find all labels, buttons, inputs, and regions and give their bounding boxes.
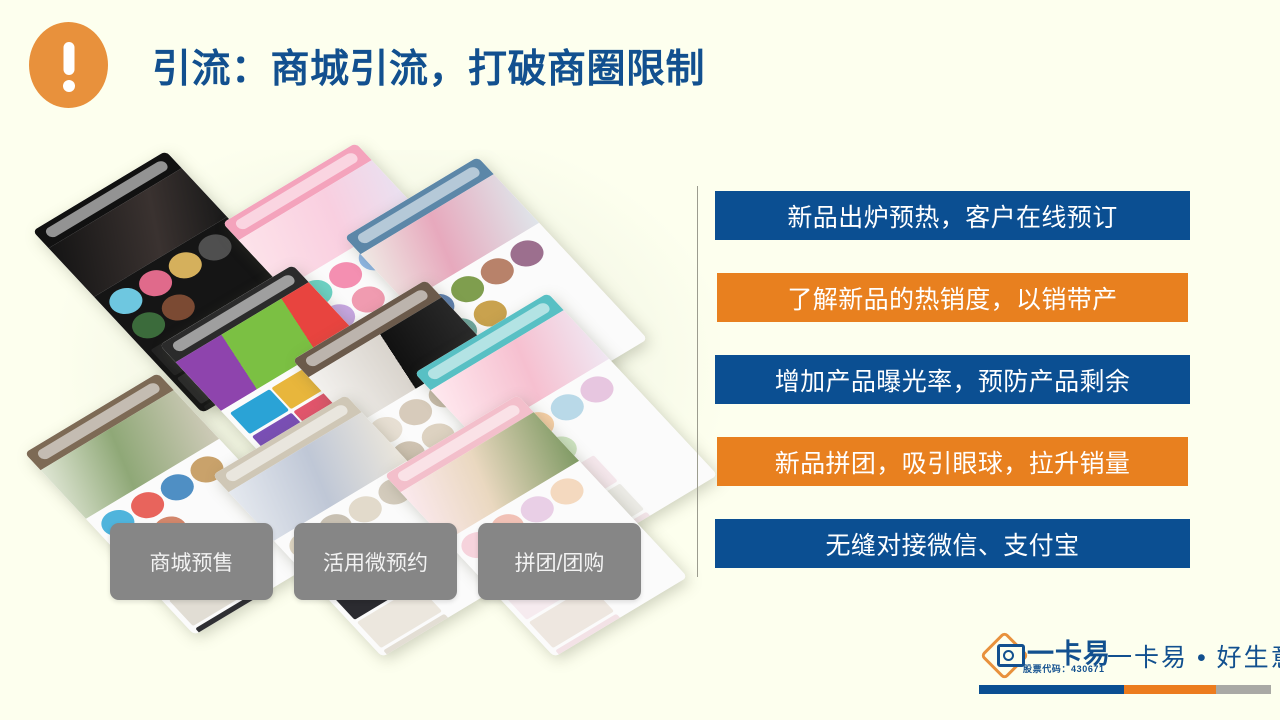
banner-group-buy-attention[interactable]: 新品拼团，吸引眼球，拉升销量 [717, 437, 1188, 486]
chip-group-buy[interactable]: 拼团/团购 [478, 523, 641, 600]
feature-chip-row: 商城预售 活用微预约 拼团/团购 [110, 523, 641, 600]
chip-micro-booking[interactable]: 活用微预约 [294, 523, 457, 600]
benefit-banner-list: 新品出炉预热，客户在线预订 了解新品的热销度，以销带产 增加产品曝光率，预防产品… [715, 191, 1190, 568]
yikayi-logo-icon [984, 635, 1024, 675]
progress-segment-blue [979, 685, 1124, 694]
exclamation-circle-icon [29, 22, 108, 108]
stock-code-label: 股票代码：430671 [1023, 662, 1105, 675]
slide-header: 引流：商城引流，打破商圈限制 [0, 0, 1280, 130]
footer-progress-bar [979, 685, 1271, 694]
page-title: 引流：商城引流，打破商圈限制 [152, 38, 705, 94]
banner-exposure-surplus[interactable]: 增加产品曝光率，预防产品剩余 [715, 355, 1190, 404]
chip-mall-presale[interactable]: 商城预售 [110, 523, 273, 600]
phone-screenshot-collage [92, 160, 692, 500]
banner-sales-heat-insight[interactable]: 了解新品的热销度，以销带产 [717, 273, 1188, 322]
exclamation-dot [63, 80, 75, 92]
footer-tagline: 一卡易 • 好生意 [1107, 638, 1280, 674]
exclamation-stem [63, 42, 74, 75]
vertical-divider [697, 186, 698, 577]
banner-new-product-preheat[interactable]: 新品出炉预热，客户在线预订 [715, 191, 1190, 240]
banner-wechat-alipay-connect[interactable]: 无缝对接微信、支付宝 [715, 519, 1190, 568]
slide-root: 引流：商城引流，打破商圈限制 [0, 0, 1280, 720]
logo-card-shape [997, 644, 1025, 667]
progress-segment-orange [1124, 685, 1216, 694]
progress-segment-gray [1216, 685, 1271, 694]
slide-footer: 一卡易 股票代码：430671 一卡易 • 好生意 [975, 628, 1275, 708]
